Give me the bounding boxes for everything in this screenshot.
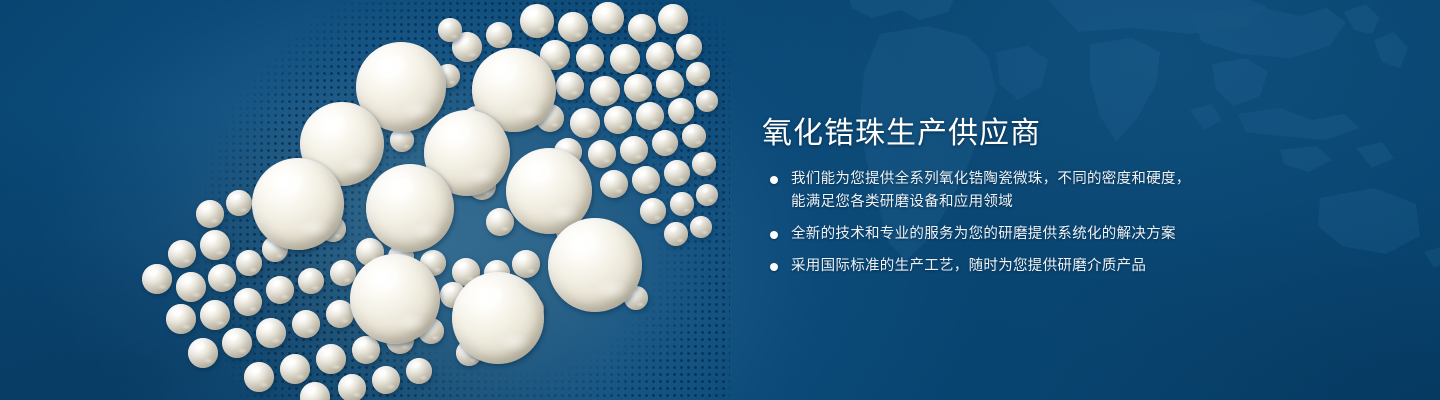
list-item-line-1: 全新的技术和专业的服务为您的研磨提供系统化的解决方案 <box>791 223 1191 246</box>
page-title: 氧化锆珠生产供应商 <box>762 108 1041 152</box>
bullet-dot-icon <box>770 176 778 184</box>
list-item-line-1: 我们能为您提供全系列氧化锆陶瓷微珠，不同的密度和硬度， <box>791 168 1191 191</box>
feature-list: 我们能为您提供全系列氧化锆陶瓷微珠，不同的密度和硬度， 能满足您各类研磨设备和应… <box>764 168 1191 278</box>
banner-text-block: 氧化锆珠生产供应商 我们能为您提供全系列氧化锆陶瓷微珠，不同的密度和硬度， 能满… <box>762 0 1322 400</box>
bullet-dot-icon <box>770 231 778 239</box>
hero-banner: 氧化锆珠生产供应商 我们能为您提供全系列氧化锆陶瓷微珠，不同的密度和硬度， 能满… <box>0 0 1440 400</box>
list-item-line-2: 能满足您各类研磨设备和应用领域 <box>791 191 1191 214</box>
bullet-dot-icon <box>770 263 778 271</box>
list-item: 采用国际标准的生产工艺，随时为您提供研磨介质产品 <box>764 255 1191 278</box>
list-item: 我们能为您提供全系列氧化锆陶瓷微珠，不同的密度和硬度， 能满足您各类研磨设备和应… <box>764 168 1191 214</box>
list-item: 全新的技术和专业的服务为您的研磨提供系统化的解决方案 <box>764 223 1191 246</box>
list-item-line-1: 采用国际标准的生产工艺，随时为您提供研磨介质产品 <box>791 255 1191 278</box>
